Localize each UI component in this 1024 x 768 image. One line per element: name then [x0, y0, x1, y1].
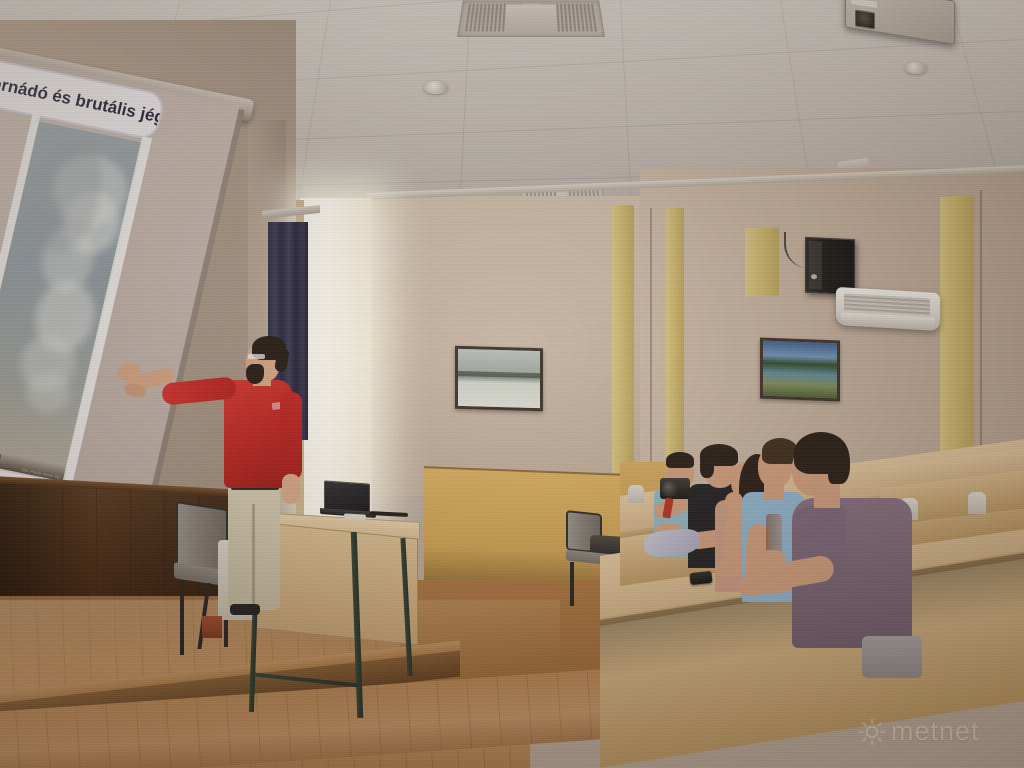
presenter-shoe — [230, 604, 260, 615]
wall-pilaster-4 — [940, 195, 974, 459]
photograph-scene: r tornádó és brutális jégeső Mis. Pamp. … — [0, 0, 1024, 768]
attendee-hand — [756, 550, 786, 572]
desk-remote[interactable] — [344, 513, 366, 519]
presenter-hand-right — [282, 474, 300, 504]
framed-lake-photo — [760, 337, 840, 401]
presenter-glasses — [248, 354, 265, 359]
attendee-purple-shirt — [766, 432, 916, 682]
mobile-phone[interactable] — [689, 571, 712, 585]
watermark-text: metnet — [891, 716, 980, 747]
camera-lens — [662, 481, 678, 497]
wall-seam-1 — [650, 208, 652, 480]
framed-landscape-photo — [455, 346, 543, 411]
presenter-beard — [246, 364, 264, 384]
air-conditioner — [836, 287, 940, 331]
ceiling-air-vent — [457, 0, 605, 37]
ceiling-light-1 — [424, 81, 448, 94]
wall-seam-2 — [980, 190, 982, 460]
rear-chair-back-2 — [968, 492, 986, 514]
watermark: metnet — [858, 716, 980, 747]
presenter-ponytail — [274, 347, 290, 373]
rear-chair-back-3 — [628, 485, 644, 503]
wall-speaker — [805, 237, 855, 296]
presenter — [132, 336, 332, 666]
attendee-hand — [725, 492, 743, 510]
wall-pilaster-2 — [666, 208, 684, 476]
wall-pilaster-1 — [612, 205, 634, 485]
wall-pilaster-3 — [745, 227, 779, 296]
ceiling-projector — [845, 0, 957, 40]
sun-icon — [858, 718, 886, 746]
ceiling-light-2 — [905, 62, 927, 74]
attendee-jeans — [862, 636, 922, 678]
desk-leg-brace — [254, 673, 358, 688]
